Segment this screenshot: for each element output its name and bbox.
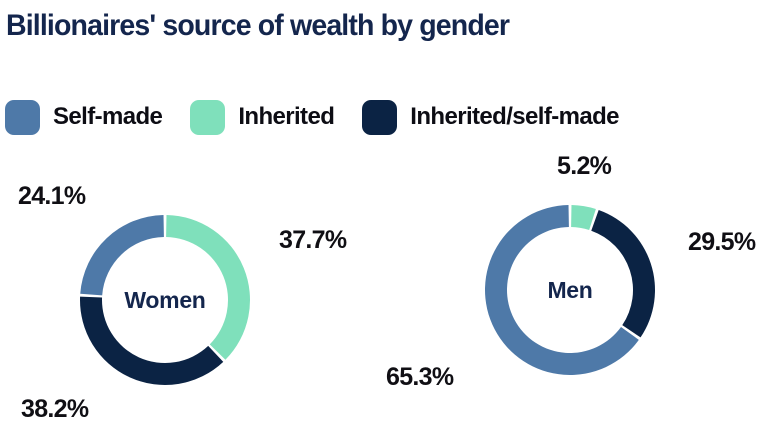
legend-item-inherited[interactable]: Inherited: [190, 97, 334, 137]
donut-chart-women: Women: [80, 215, 250, 385]
legend-label-self-made: Self-made: [53, 103, 162, 131]
donut-slice[interactable]: [80, 297, 223, 385]
donut-slice[interactable]: [80, 215, 164, 295]
value-label-women-self-made: 24.1%: [18, 182, 85, 211]
page-title: Billionaires' source of wealth by gender: [6, 8, 509, 44]
value-label-men-inherited: 5.2%: [557, 152, 611, 181]
legend-swatch-inherited-self-made: [362, 100, 397, 135]
value-label-women-inherited: 37.7%: [279, 226, 346, 255]
value-label-women-inherited-self-made: 38.2%: [21, 395, 88, 424]
donut-svg-women: [80, 215, 250, 385]
legend-label-inherited-self-made: Inherited/self-made: [410, 103, 619, 131]
legend-swatch-inherited: [190, 100, 225, 135]
value-label-men-inherited-self-made: 29.5%: [688, 228, 755, 257]
donut-slice[interactable]: [571, 205, 596, 230]
value-label-men-self-made: 65.3%: [386, 363, 453, 392]
donut-svg-men: [485, 205, 655, 375]
legend-label-inherited: Inherited: [238, 103, 334, 131]
donut-chart-men: Men: [485, 205, 655, 375]
legend-item-self-made[interactable]: Self-made: [5, 97, 162, 137]
donut-slice[interactable]: [591, 210, 655, 337]
chart-legend: Self-made Inherited Inherited/self-made: [5, 97, 619, 137]
legend-item-inherited-self-made[interactable]: Inherited/self-made: [362, 97, 619, 137]
donut-slice[interactable]: [166, 215, 250, 360]
legend-swatch-self-made: [5, 100, 40, 135]
